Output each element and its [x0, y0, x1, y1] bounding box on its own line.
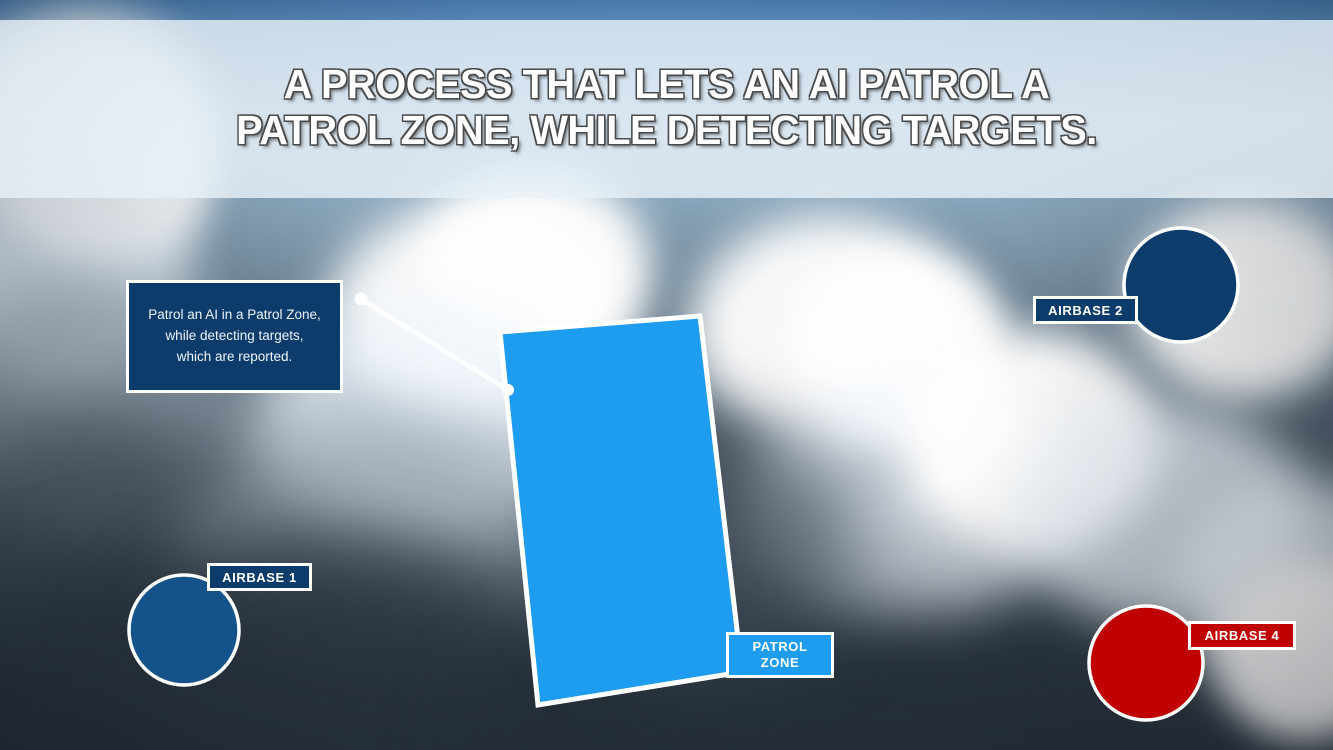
patrol-zone-polygon[interactable] — [500, 316, 742, 705]
airbase-2-circle[interactable] — [1124, 228, 1238, 342]
title-band: A PROCESS THAT LETS AN AI PATROL A PATRO… — [0, 20, 1333, 198]
description-callout-box[interactable]: Patrol an AI in a Patrol Zone, while det… — [126, 280, 343, 393]
airbase-1-circle[interactable] — [129, 575, 239, 685]
label-airbase-1[interactable]: AIRBASE 1 — [207, 563, 312, 591]
connector-line — [361, 299, 508, 390]
label-airbase-2[interactable]: AIRBASE 2 — [1033, 296, 1138, 324]
slide-canvas: A PROCESS THAT LETS AN AI PATROL A PATRO… — [0, 0, 1333, 750]
slide-title: A PROCESS THAT LETS AN AI PATROL A PATRO… — [20, 62, 1313, 154]
airbase-4-circle[interactable] — [1089, 606, 1203, 720]
label-patrol-zone[interactable]: PATROL ZONE — [726, 632, 834, 678]
connector-endpoint-end — [502, 384, 514, 396]
description-callout-text: Patrol an AI in a Patrol Zone, while det… — [140, 305, 329, 368]
connector-endpoint-start — [355, 293, 368, 306]
label-airbase-4[interactable]: AIRBASE 4 — [1188, 621, 1296, 650]
